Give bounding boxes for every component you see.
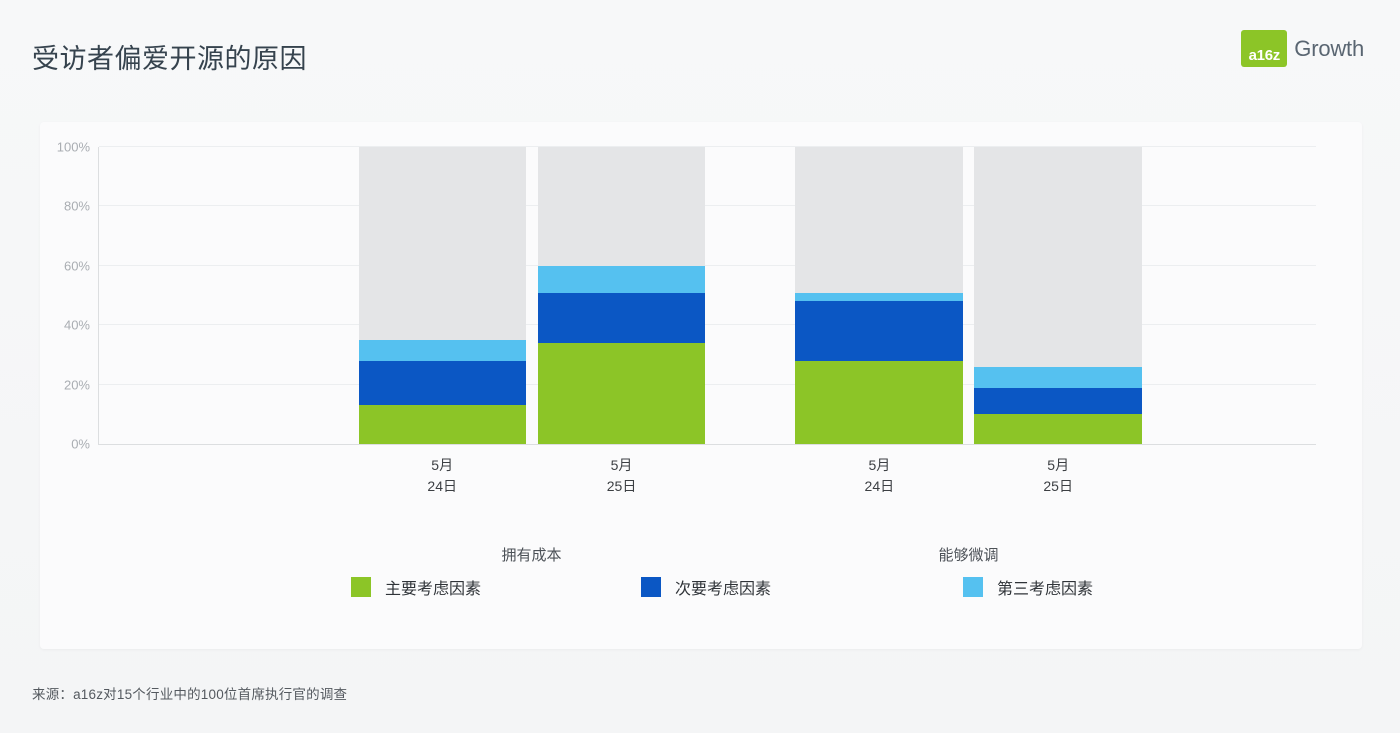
x-axis-tick-label: 5月24日 — [865, 455, 895, 497]
bar-segment[interactable] — [359, 340, 526, 361]
bar-segment[interactable] — [538, 266, 706, 293]
bar-column[interactable]: 5月24日 — [795, 147, 963, 444]
bar-segment[interactable] — [974, 414, 1142, 444]
y-axis-tick-label: 40% — [64, 318, 90, 333]
slide-root: 受访者偏爱开源的原因 a16z Growth 0%20%40%60%80%100… — [0, 0, 1400, 733]
source-note: 来源：a16z对15个行业中的100位首席执行官的调查 — [32, 683, 347, 703]
bar-segment[interactable] — [538, 343, 706, 444]
chart-card: 0%20%40%60%80%100% 5月24日5月25日5月24日5月25日 … — [40, 122, 1362, 649]
x-axis-tick-line2: 25日 — [1043, 476, 1073, 497]
bar-segment[interactable] — [795, 301, 963, 360]
group-label: 能够微调 — [938, 544, 998, 565]
bar-series: 5月24日5月25日5月24日5月25日 — [99, 147, 1316, 444]
stacked-bar-chart: 0%20%40%60%80%100% 5月24日5月25日5月24日5月25日 … — [40, 122, 1362, 649]
group-label: 拥有成本 — [501, 544, 561, 565]
brand-name: Growth — [1294, 36, 1364, 62]
legend-label: 次要考虑因素 — [675, 575, 771, 599]
x-axis-tick-line2: 25日 — [607, 476, 637, 497]
bar-segment[interactable] — [795, 293, 963, 302]
bar-segment[interactable] — [538, 293, 706, 343]
bar-column[interactable]: 5月25日 — [538, 147, 706, 444]
a16z-logo-icon: a16z — [1241, 30, 1287, 67]
x-axis-tick-line2: 24日 — [865, 476, 895, 497]
bar-segment[interactable] — [974, 388, 1142, 415]
bar-segment[interactable] — [974, 367, 1142, 388]
legend-swatch — [641, 577, 661, 597]
y-axis-tick-label: 80% — [64, 199, 90, 214]
legend-swatch — [963, 577, 983, 597]
legend-swatch — [351, 577, 371, 597]
legend-item[interactable]: 主要考虑因素 — [351, 575, 481, 599]
x-axis-tick-label: 5月25日 — [1043, 455, 1073, 497]
x-axis-tick-label: 5月25日 — [607, 455, 637, 497]
bar-column[interactable]: 5月25日 — [974, 147, 1142, 444]
legend-item[interactable]: 第三考虑因素 — [963, 575, 1093, 599]
plot-area: 0%20%40%60%80%100% 5月24日5月25日5月24日5月25日 — [98, 147, 1316, 445]
legend-label: 第三考虑因素 — [997, 575, 1093, 599]
x-axis-tick-line1: 5月 — [865, 455, 895, 476]
brand-logo: a16z Growth — [1241, 30, 1364, 67]
brand-mark-text: a16z — [1249, 47, 1280, 64]
x-axis-tick-line2: 24日 — [427, 476, 457, 497]
y-axis-tick-label: 100% — [57, 140, 90, 155]
x-axis-tick-line1: 5月 — [1043, 455, 1073, 476]
y-axis-tick-label: 60% — [64, 258, 90, 273]
bar-segment[interactable] — [359, 361, 526, 406]
legend-label: 主要考虑因素 — [385, 575, 481, 599]
x-axis-tick-line1: 5月 — [427, 455, 457, 476]
x-axis-tick-label: 5月24日 — [427, 455, 457, 497]
y-axis-tick-label: 20% — [64, 377, 90, 392]
bar-column[interactable]: 5月24日 — [359, 147, 526, 444]
page-title: 受访者偏爱开源的原因 — [32, 40, 307, 78]
bar-segment[interactable] — [795, 361, 963, 444]
bar-segment[interactable] — [359, 405, 526, 444]
legend-item[interactable]: 次要考虑因素 — [641, 575, 771, 599]
x-axis-tick-line1: 5月 — [607, 455, 637, 476]
y-axis-tick-label: 0% — [71, 437, 90, 452]
